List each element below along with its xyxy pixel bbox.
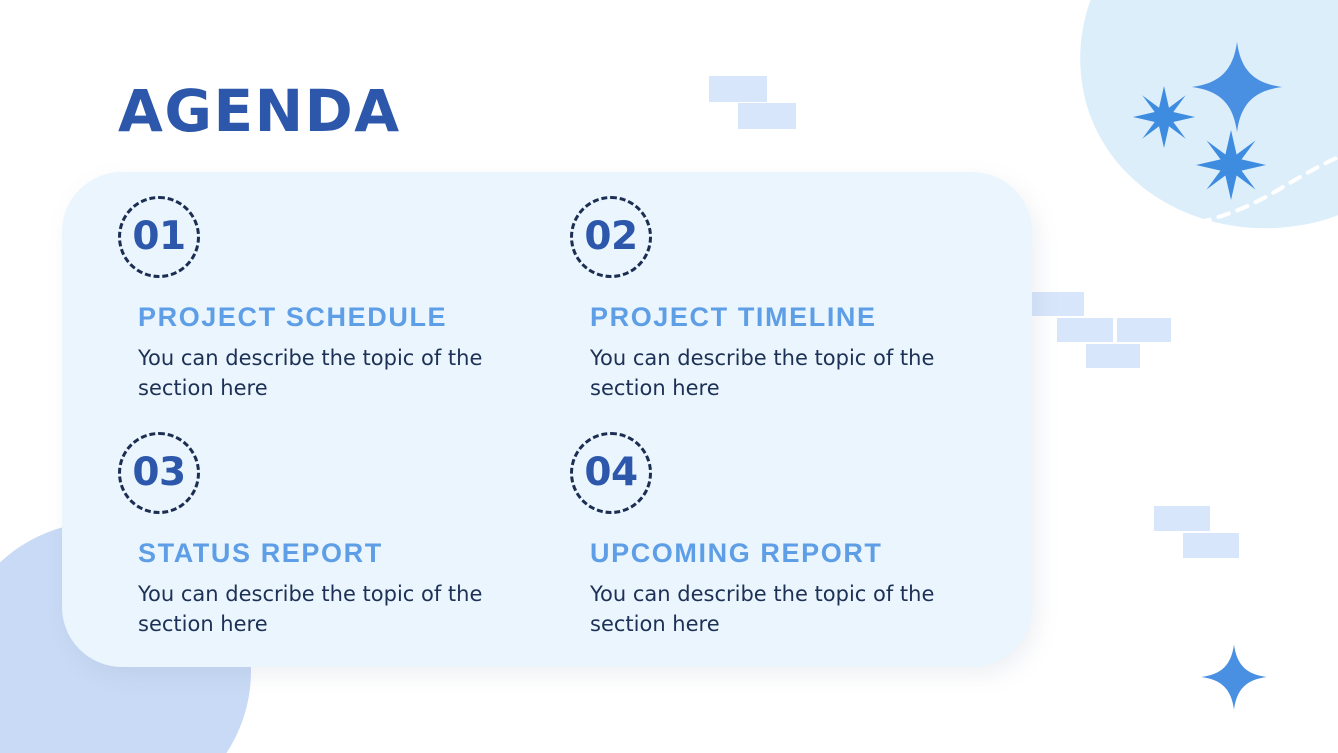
item-heading: PROJECT TIMELINE — [590, 304, 1022, 331]
number-label: 02 — [584, 217, 637, 256]
item-description: You can describe the topic of the sectio… — [590, 344, 950, 404]
number-label: 04 — [584, 453, 637, 492]
agenda-item-04[interactable]: 04 UPCOMING REPORT You can describe the … — [570, 432, 1022, 668]
agenda-item-02[interactable]: 02 PROJECT TIMELINE You can describe the… — [570, 196, 1022, 432]
rect-cluster-right-middle — [1086, 344, 1140, 368]
page-title: AGENDA — [118, 82, 401, 140]
rect-pair-right-lower — [1183, 533, 1239, 558]
number-badge-01: 01 — [118, 196, 200, 278]
rect-cluster-right-middle — [1030, 292, 1084, 316]
eight-point-star-upper — [1133, 86, 1195, 148]
agenda-grid: 01 PROJECT SCHEDULE You can describe the… — [118, 196, 1018, 668]
item-heading: PROJECT SCHEDULE — [138, 304, 570, 331]
rect-pair-right-lower — [1154, 506, 1210, 531]
rect-cluster-right-middle — [1057, 318, 1113, 342]
item-description: You can describe the topic of the sectio… — [138, 344, 498, 404]
four-point-star-top-right — [1190, 40, 1284, 134]
agenda-slide: AGENDA 01 PROJECT SCHEDULE You can descr… — [0, 0, 1338, 753]
four-point-star-bottom-right — [1200, 643, 1268, 711]
item-description: You can describe the topic of the sectio… — [138, 580, 498, 640]
number-label: 03 — [132, 453, 185, 492]
number-badge-03: 03 — [118, 432, 200, 514]
number-badge-04: 04 — [570, 432, 652, 514]
rect-cluster-right-middle — [1117, 318, 1171, 342]
rect-pair-top-center — [738, 103, 796, 129]
number-label: 01 — [132, 217, 185, 256]
item-description: You can describe the topic of the sectio… — [590, 580, 950, 640]
agenda-item-03[interactable]: 03 STATUS REPORT You can describe the to… — [118, 432, 570, 668]
eight-point-star-lower — [1196, 130, 1266, 200]
item-heading: STATUS REPORT — [138, 540, 570, 567]
item-heading: UPCOMING REPORT — [590, 540, 1022, 567]
number-badge-02: 02 — [570, 196, 652, 278]
agenda-item-01[interactable]: 01 PROJECT SCHEDULE You can describe the… — [118, 196, 570, 432]
rect-pair-top-center — [709, 76, 767, 102]
